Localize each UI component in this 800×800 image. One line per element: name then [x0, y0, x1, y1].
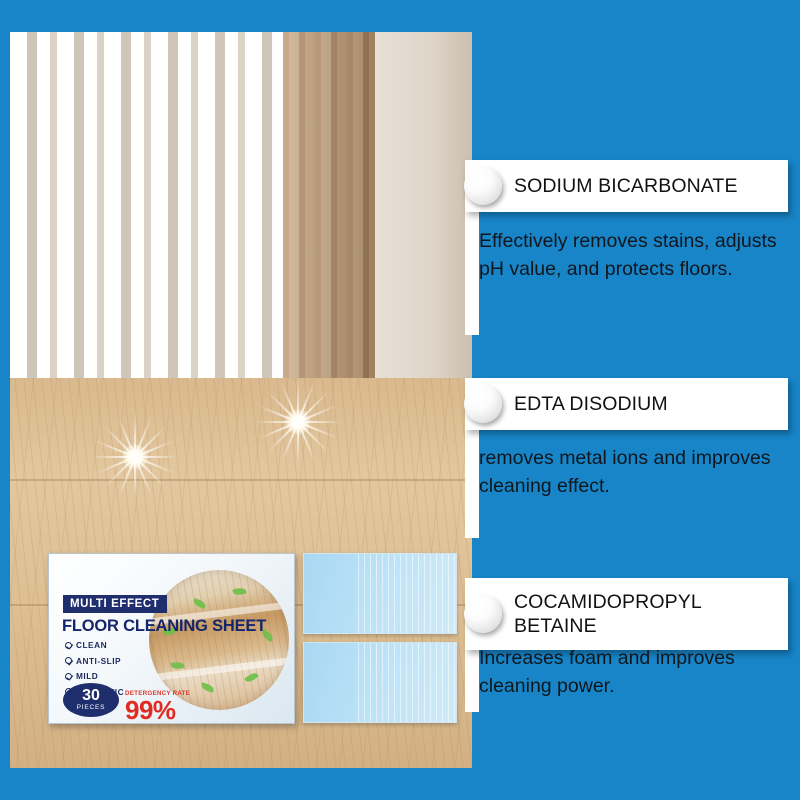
callout-bullet-icon: [464, 595, 502, 633]
callout-bullet-icon: [464, 167, 502, 205]
callout-body-text: Increases foam and improves cleaning pow…: [479, 645, 784, 700]
callout-title-text: EDTA DISODIUM: [514, 392, 668, 416]
callout-title-text: SODIUM BICARBONATE: [514, 174, 738, 198]
check-icon: [65, 673, 72, 680]
callout-body-text: Effectively removes stains, adjusts pH v…: [479, 228, 779, 283]
package-circle-photo: [149, 570, 289, 710]
quantity-unit: PIECES: [63, 705, 119, 712]
feature-item: MILD: [65, 671, 124, 681]
callout-bullet-icon: [464, 385, 502, 423]
leaf-icon: [192, 598, 207, 609]
leaf-icon: [170, 661, 184, 670]
callout-title-bar: EDTA DISODIUM: [465, 378, 788, 430]
quantity-number: 30: [63, 688, 119, 704]
feature-item: ANTI-SLIP: [65, 656, 124, 666]
package-eyebrow-label: MULTI EFFECT: [63, 595, 167, 613]
cleaning-sheet: [303, 642, 457, 723]
callout-body-text: removes metal ions and improves cleaning…: [479, 445, 784, 500]
product-package-box: MULTI EFFECT FLOOR CLEANING SHEET CLEAN …: [48, 553, 295, 724]
package-title: FLOOR CLEANING SHEET: [62, 617, 266, 636]
callout-title-text: COCAMIDOPROPYL BETAINE: [514, 590, 778, 639]
quantity-badge: 30 PIECES: [63, 683, 119, 717]
floor-cleaning-sheets: [303, 553, 457, 723]
check-icon: [65, 642, 72, 649]
feature-item: CLEAN: [65, 640, 124, 650]
leaf-icon: [200, 682, 214, 692]
leaf-icon: [244, 671, 258, 685]
check-icon: [65, 657, 72, 664]
cleaning-sheet: [303, 553, 457, 634]
detergency-value: 99%: [125, 697, 176, 723]
callout-title-bar: COCAMIDOPROPYL BETAINE: [465, 578, 788, 650]
callout-title-bar: SODIUM BICARBONATE: [465, 160, 788, 212]
leaf-icon: [232, 586, 246, 596]
